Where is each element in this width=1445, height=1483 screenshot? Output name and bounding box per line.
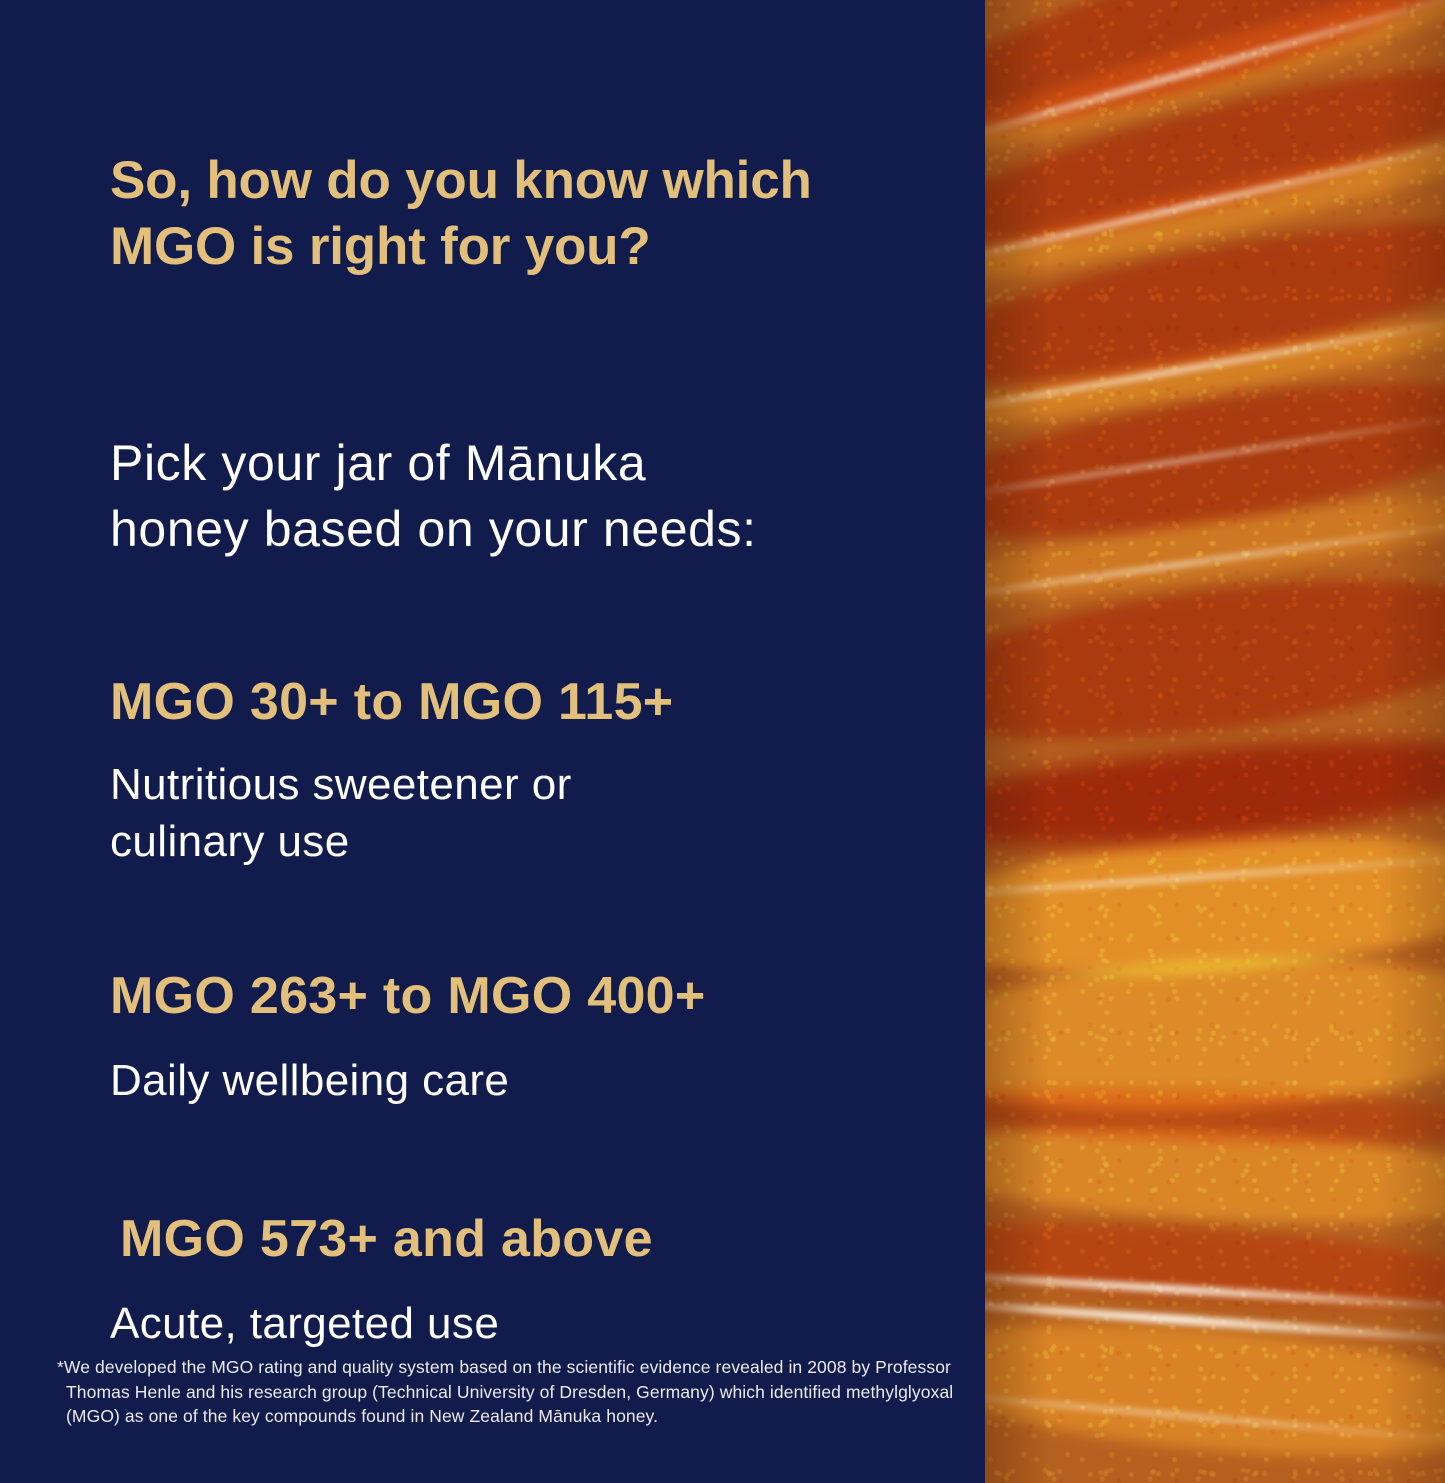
footnote-disclaimer: *We developed the MGO rating and quality…: [57, 1355, 956, 1429]
mgo-tier-3-description: Acute, targeted use: [110, 1269, 970, 1352]
content-column: So, how do you know which MGO is right f…: [110, 148, 970, 1352]
mgo-tier-2-title: MGO 263+ to MGO 400+: [110, 966, 970, 1026]
mgo-tier-3: MGO 573+ and above Acute, targeted use: [110, 1109, 970, 1352]
mgo-tier-1-description: Nutritious sweetener or culinary use: [110, 732, 970, 870]
poster-root: So, how do you know which MGO is right f…: [0, 0, 1445, 1483]
mgo-tier-3-title: MGO 573+ and above: [110, 1209, 970, 1269]
mgo-tier-2-description: Daily wellbeing care: [110, 1026, 970, 1109]
mgo-tier-1-title: MGO 30+ to MGO 115+: [110, 672, 970, 732]
page-headline: So, how do you know which MGO is right f…: [110, 148, 970, 280]
text-panel: So, how do you know which MGO is right f…: [0, 0, 985, 1483]
mgo-tier-1: MGO 30+ to MGO 115+ Nutritious sweetener…: [110, 562, 970, 870]
honey-vignette: [985, 0, 1445, 1483]
mgo-tier-2: MGO 263+ to MGO 400+ Daily wellbeing car…: [110, 870, 970, 1109]
lead-paragraph: Pick your jar of Mānuka honey based on y…: [110, 280, 970, 562]
honey-photo: [985, 0, 1445, 1483]
